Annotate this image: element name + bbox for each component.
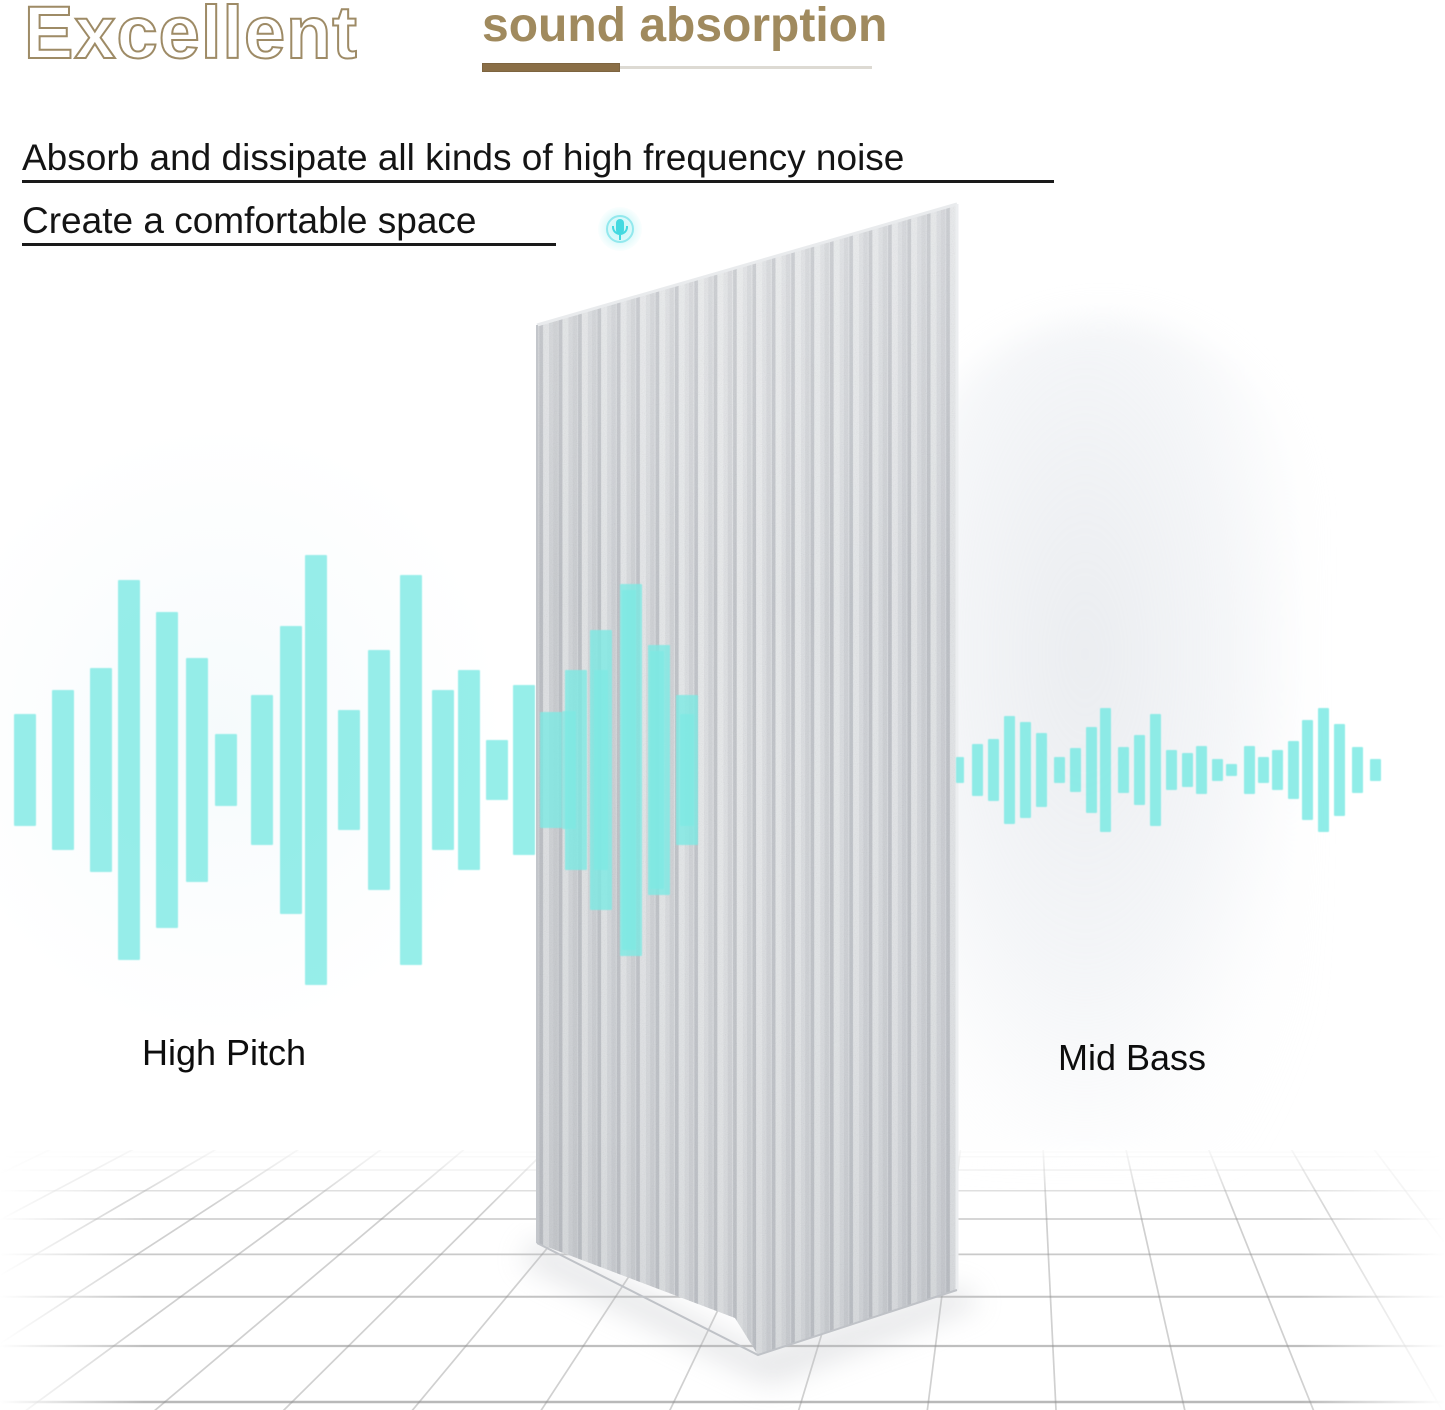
- waveform-bar: [1302, 720, 1313, 820]
- waveform-bar: [1054, 757, 1065, 783]
- waveform-bar: [513, 685, 535, 855]
- waveform-bar: [1070, 748, 1081, 792]
- waveform-bar: [540, 712, 562, 828]
- waveform-bar: [1288, 741, 1299, 799]
- waveform-bar: [972, 744, 983, 796]
- waveform-bar: [1036, 733, 1047, 807]
- waveform-bar: [251, 695, 273, 845]
- waveform-bar: [956, 757, 964, 783]
- waveform-bar: [1150, 714, 1161, 826]
- waveform-bar: [622, 590, 636, 950]
- waveform-bar: [118, 580, 140, 960]
- waveform-bar: [1086, 727, 1097, 813]
- waveform-bar: [156, 612, 178, 928]
- rule-accent: [482, 63, 620, 72]
- waveform-label-mid-bass: Mid Bass: [1058, 1040, 1206, 1076]
- subhead-line-1: Absorb and dissipate all kinds of high f…: [22, 139, 904, 176]
- subhead-line-2: Create a comfortable space: [22, 202, 477, 239]
- waveform-bar: [215, 734, 237, 806]
- waveform-bar: [1318, 708, 1329, 832]
- waveform-bar: [1352, 747, 1363, 793]
- subhead-underline-2: [22, 243, 556, 246]
- waveform-bar: [432, 690, 454, 850]
- waveform-bar: [52, 690, 74, 850]
- headline-outline: Excellent: [24, 0, 358, 70]
- waveform-label-high-pitch: High Pitch: [142, 1035, 306, 1071]
- waveform-bar: [1118, 747, 1129, 793]
- waveform-bar: [458, 670, 480, 870]
- header: Excellent sound absorption: [0, 0, 1445, 100]
- waveform-bar: [988, 739, 999, 801]
- waveform-bar: [486, 740, 508, 800]
- waveform-bar: [338, 710, 360, 830]
- waveform-bar: [368, 650, 390, 890]
- rule-extension: [620, 66, 872, 69]
- waveform-bar: [1272, 750, 1283, 790]
- headline-solid: sound absorption: [482, 2, 887, 50]
- waveform-bar: [1258, 757, 1269, 783]
- waveform-bar: [1166, 750, 1177, 790]
- subhead-underline-1: [22, 180, 1054, 183]
- waveform-bar: [1004, 716, 1015, 824]
- waveform-bar: [1212, 759, 1223, 781]
- waveform-bar: [562, 711, 576, 829]
- waveform-bar: [14, 714, 36, 826]
- waveform-bar: [1182, 753, 1193, 787]
- waveform-bar: [1370, 759, 1381, 781]
- waveform-bar: [650, 651, 664, 889]
- waveform-bar: [1100, 708, 1111, 832]
- waveform-bar: [400, 575, 422, 965]
- waveform-bar: [1244, 746, 1255, 794]
- promo-stage: High Pitch Mid Bass Excellent sound abso…: [0, 0, 1445, 1410]
- waveform-bar: [1134, 735, 1145, 805]
- waveform-bar: [680, 714, 694, 826]
- waveform-bar: [280, 626, 302, 914]
- microphone-stem: [619, 235, 621, 240]
- waveform-bar: [1226, 764, 1237, 776]
- waveform-bar: [1020, 722, 1031, 818]
- microphone-icon: [598, 207, 642, 251]
- waveform-bar: [1196, 746, 1207, 794]
- waveform-bar: [90, 668, 112, 872]
- waveform-bar: [305, 555, 327, 985]
- waveform-bar: [1334, 724, 1345, 816]
- waveform-bar: [186, 658, 208, 882]
- waveform-bar: [594, 670, 608, 870]
